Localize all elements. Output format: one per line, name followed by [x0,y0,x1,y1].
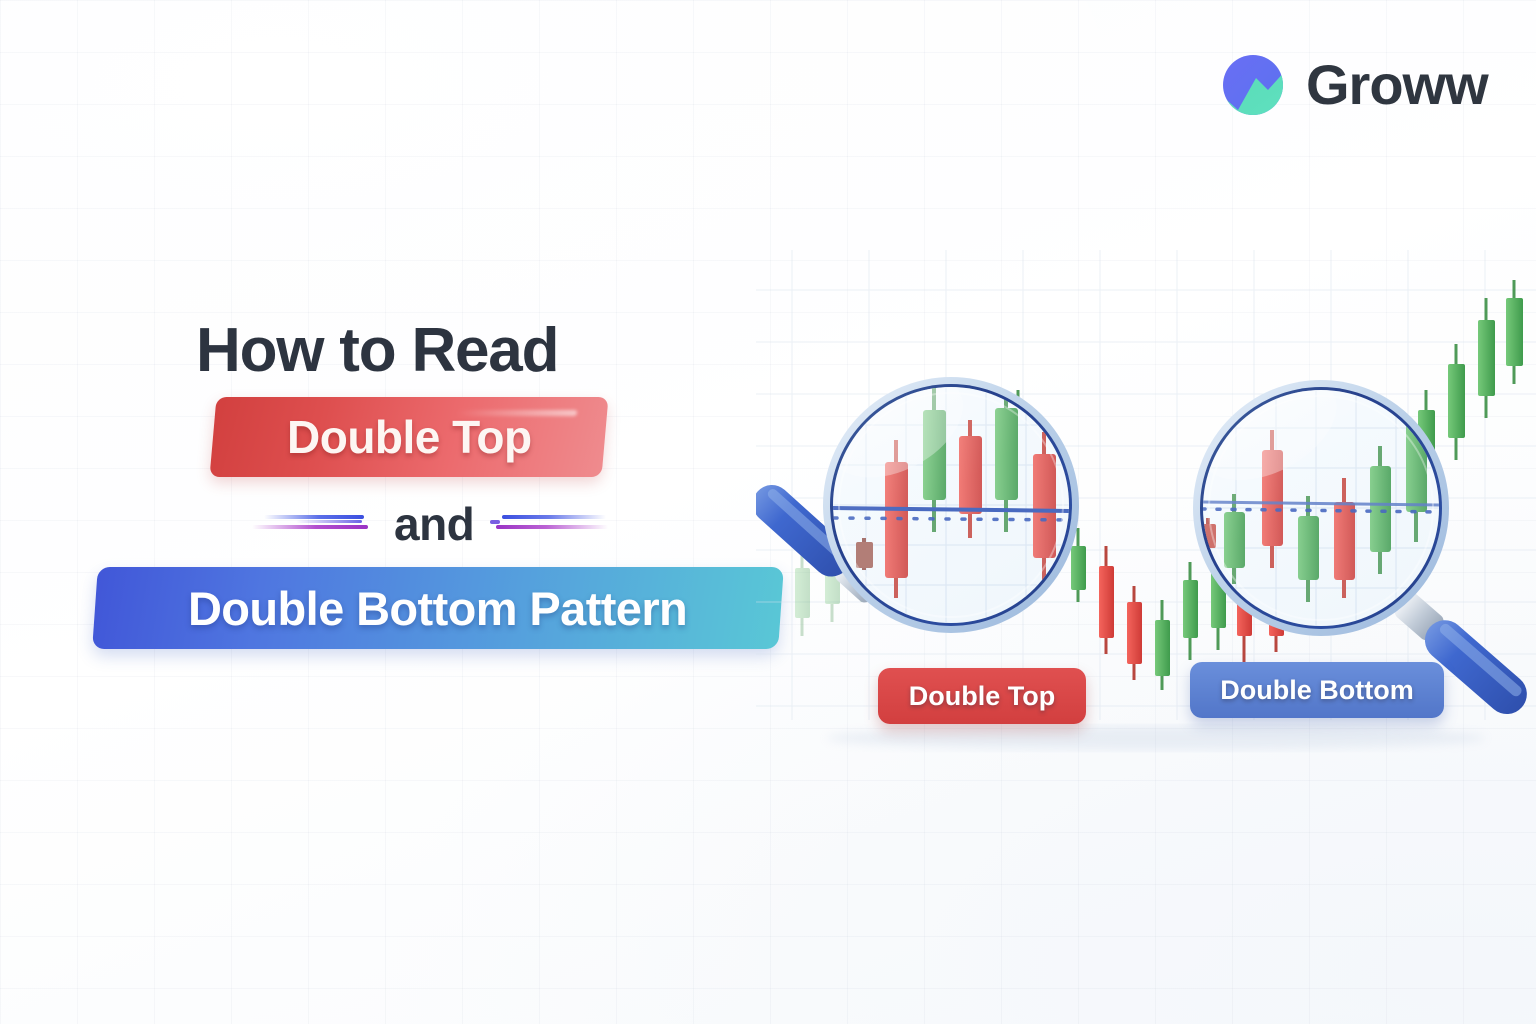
groww-mountain-icon [1222,54,1284,116]
candle [1155,600,1170,690]
headline-double-bottom-label: Double Bottom Pattern [188,581,687,636]
headline-connector-row: and [0,493,800,555]
groww-wordmark: Groww [1306,52,1488,117]
headline-line-1: How to Read [0,318,800,383]
spark-left-decoration [252,507,380,541]
candle [1448,344,1465,460]
headline-double-top-banner: Double Top [210,397,609,477]
candle [1478,298,1495,418]
ground-shadow [826,726,1486,750]
candle [1099,546,1114,654]
headline-connector-label: and [380,497,488,551]
headline-block: How to Read Double Top and Double Bottom… [0,318,800,649]
groww-logo: Groww [1222,52,1488,117]
candle [1183,562,1198,660]
headline-double-bottom-banner: Double Bottom Pattern [92,567,784,649]
candle [1127,586,1142,680]
headline-double-top-label: Double Top [287,410,532,464]
candle [1506,280,1523,384]
badge-double-top: Double Top [878,668,1086,724]
spark-right-decoration [488,507,616,541]
badge-double-bottom: Double Bottom [1190,662,1444,718]
